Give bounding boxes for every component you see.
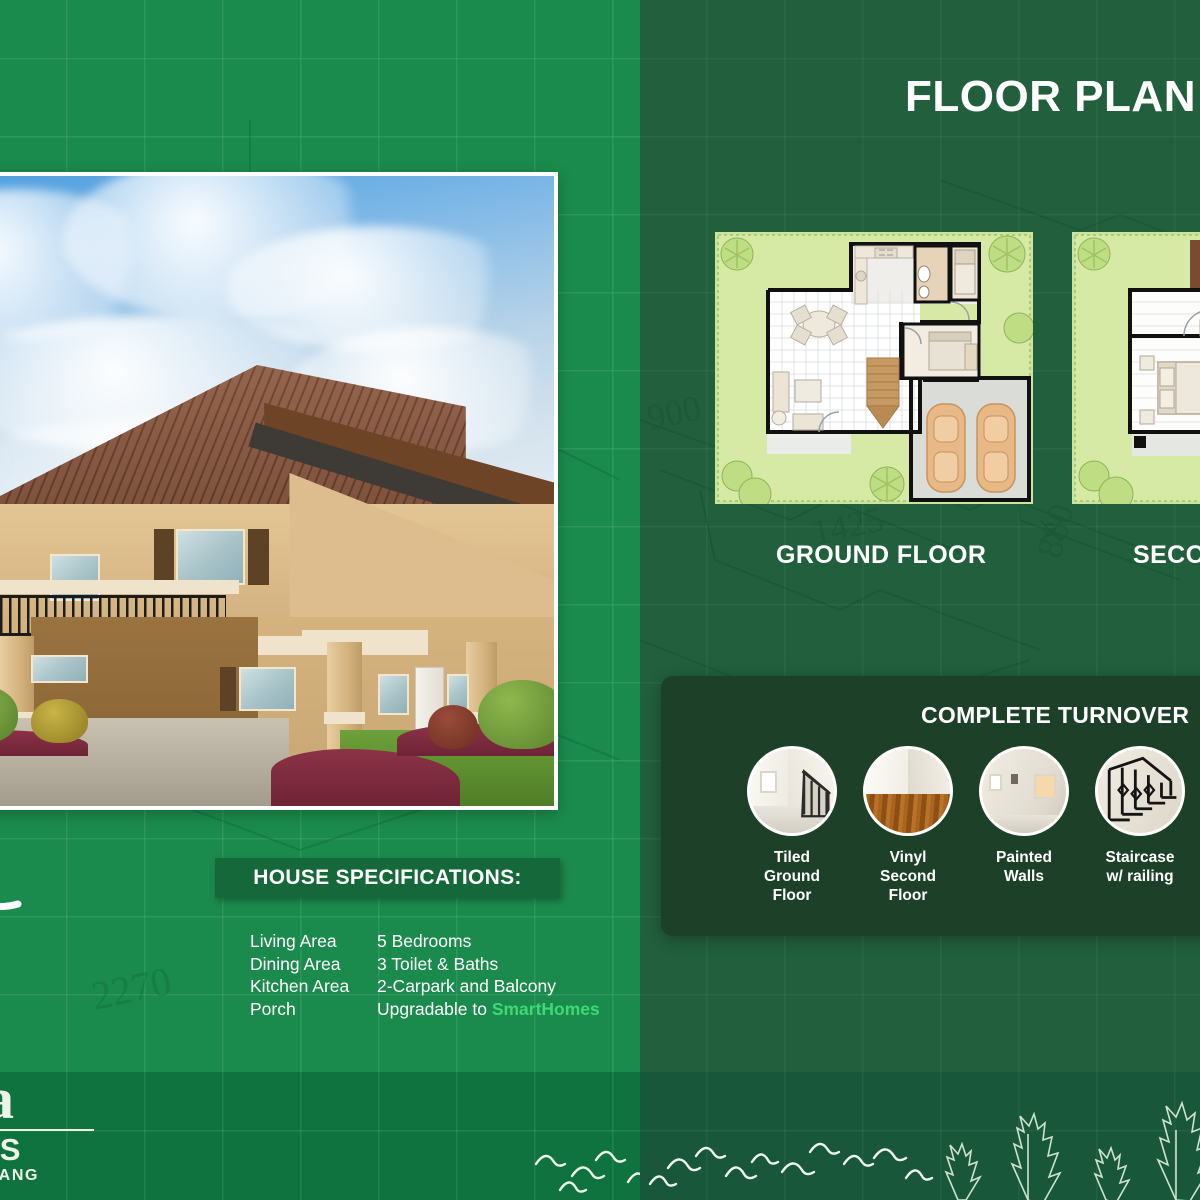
turnover-label-0: TiledGroundFloor [747,848,837,905]
complete-turnover-card: COMPLETE TURNOVER [661,676,1200,936]
painted-walls-photo [979,746,1069,836]
spec-right-3: Upgradable to SmartHomes [377,998,620,1021]
grid-pattern-right [640,0,1200,1200]
svg-text:900: 900 [643,387,704,437]
spec-row: Kitchen Area 2-Carpark and Balcony [250,975,620,998]
spec-right-2: 2-Carpark and Balcony [377,975,620,998]
turnover-item-vinyl-second-floor: VinylSecondFloor [863,746,953,905]
staircase-railing-photo [1095,746,1185,836]
house-specifications-table: Living Area 5 Bedrooms Dining Area 3 Toi… [250,930,620,1020]
ground-floor-plan [715,232,1033,504]
second-floor-plan [1072,232,1200,504]
turnover-items-list: TiledGroundFloor VinylSecondFloor [747,746,1200,905]
turnover-item-tiled-ground-floor: TiledGroundFloor [747,746,837,905]
turnover-label-2: PaintedWalls [979,848,1069,886]
house-exterior-photo [0,172,558,810]
turnover-item-painted-walls: PaintedWalls [979,746,1069,905]
poster-canvas: 900 1425 2270 900 [0,0,1200,1200]
blueprint-sketch-right: 900 1425 880 [640,0,1200,1200]
birds-and-trees-illustration-dark [640,1072,1200,1200]
spec-right-1: 3 Toilet & Baths [377,953,620,976]
house-specifications-header: HOUSE SPECIFICATIONS: [215,858,560,898]
svg-text:880: 880 [1029,500,1082,563]
complete-turnover-title: COMPLETE TURNOVER [921,702,1189,729]
second-floor-label: SECOND FLOOR [1133,541,1200,570]
spec-left-0: Living Area [250,930,377,953]
turnover-label-1: VinylSecondFloor [863,848,953,905]
spec-left-2: Kitchen Area [250,975,377,998]
spec-row: Living Area 5 Bedrooms [250,930,620,953]
spec-left-1: Dining Area [250,953,377,976]
smarthomes-accent: SmartHomes [492,999,600,1019]
turnover-label-3: Staircasew/ railing [1095,848,1185,886]
vinyl-floor-photo [863,746,953,836]
area-summary: 166 sqm. : 206 sqm. [0,952,122,1018]
tiled-floor-room-photo [747,746,837,836]
spec-row: Dining Area 3 Toilet & Baths [250,953,620,976]
ground-floor-label: GROUND FLOOR [776,541,986,570]
bottom-band-dark-segment [640,1072,1200,1200]
spec-left-3: Porch [250,998,377,1021]
turnover-item-staircase-railing: Staircasew/ railing [1095,746,1185,905]
floor-area-line: 166 sqm. [0,952,122,985]
spec-right-3-text: Upgradable to [377,999,492,1019]
house-specifications-title: HOUSE SPECIFICATIONS: [253,866,521,890]
right-panel-background: 900 1425 880 [640,0,1200,1200]
spec-row: Porch Upgradable to SmartHomes [250,998,620,1021]
lot-area-line: : 206 sqm. [0,985,122,1018]
page-title: FLOOR PLAN [905,72,1200,122]
spec-right-0: 5 Bedrooms [377,930,620,953]
